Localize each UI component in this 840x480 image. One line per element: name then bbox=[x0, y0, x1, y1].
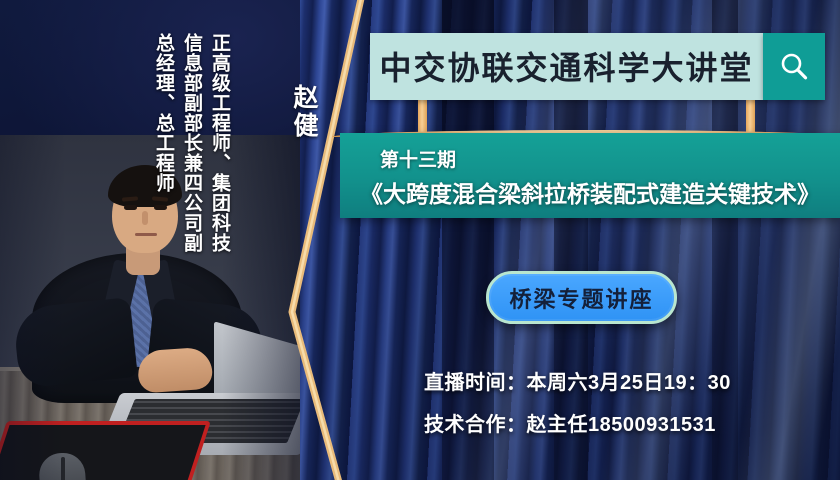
issue-number: 第十三期 bbox=[380, 145, 456, 172]
header-plate: 中交协联交通科学大讲堂 bbox=[370, 33, 763, 100]
header-banner: 中交协联交通科学大讲堂 bbox=[370, 33, 825, 100]
contact-text: 技术合作：赵主任18500931531 bbox=[424, 408, 716, 437]
topic-badge[interactable]: 桥梁专题讲座 bbox=[486, 271, 677, 324]
speaker-name: 赵健 bbox=[286, 84, 322, 140]
search-button[interactable] bbox=[763, 33, 825, 100]
speaker-credential-line-1: 正高级工程师、集团科技 bbox=[206, 33, 233, 253]
speaker-credential-line-2: 信息部副部长兼四公司副 bbox=[178, 33, 205, 253]
page-title: 中交协联交通科学大讲堂 bbox=[379, 43, 753, 89]
search-icon bbox=[777, 50, 811, 84]
topic-badge-label: 桥梁专题讲座 bbox=[509, 282, 653, 314]
poster-canvas: 赵健 正高级工程师、集团科技 信息部副部长兼四公司副 总经理、总工程师 中交协联… bbox=[0, 0, 840, 480]
lecture-title: 《大跨度混合梁斜拉桥装配式建造关键技术》 bbox=[348, 175, 832, 209]
speaker-credential-line-3: 总经理、总工程师 bbox=[150, 33, 177, 193]
subtitle-band: 第十三期 《大跨度混合梁斜拉桥装配式建造关键技术》 bbox=[340, 133, 840, 218]
live-time-text: 直播时间：本周六3月25日19：30 bbox=[424, 366, 731, 395]
